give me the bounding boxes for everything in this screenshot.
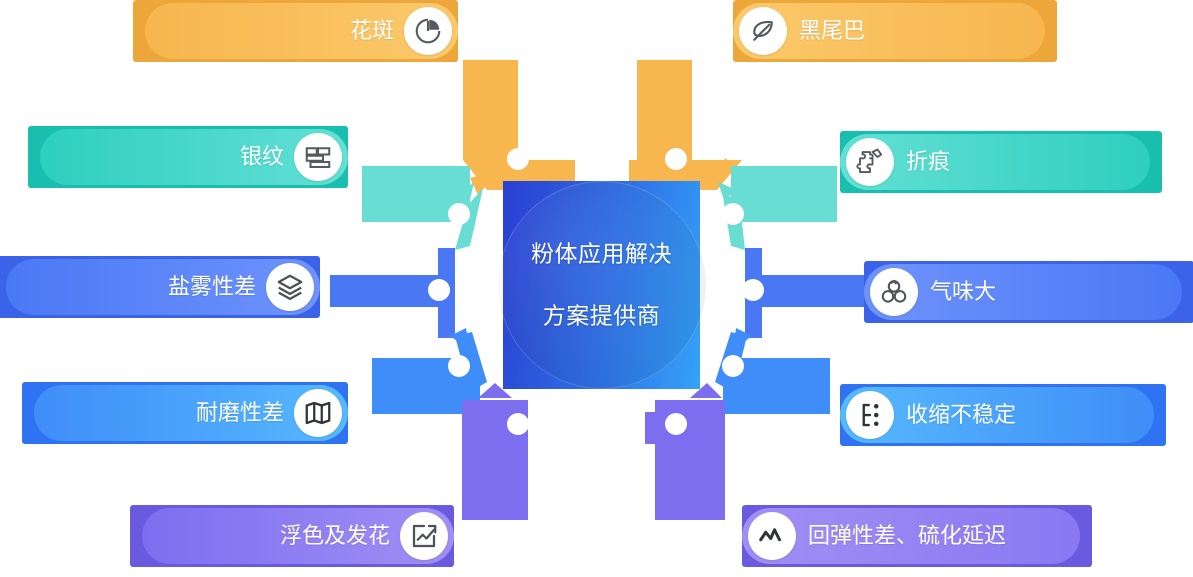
connector-huitan xyxy=(645,383,725,520)
leaf-icon xyxy=(739,7,787,55)
node-zhehen[interactable]: 折痕 xyxy=(840,131,1162,193)
node-qiwei[interactable]: 气味大 xyxy=(864,261,1193,323)
node-label: 盐雾性差 xyxy=(168,276,256,298)
node-label: 气味大 xyxy=(930,281,996,303)
hub-label-line1: 粉体应用解决 xyxy=(503,239,700,270)
hub-label-line2: 方案提供商 xyxy=(503,301,700,332)
node-huaban[interactable]: 花斑 xyxy=(133,0,458,62)
connector-huaban xyxy=(463,60,575,195)
node-label: 银纹 xyxy=(240,146,284,168)
diagram-canvas: 粉体应用解决 方案提供商 花斑 银纹 xyxy=(0,0,1193,577)
node-pill[interactable]: 回弹性差、硫化延迟 xyxy=(742,508,1080,564)
pie-chart-icon xyxy=(404,7,452,55)
node-label: 回弹性差、硫化延迟 xyxy=(808,525,1006,547)
line-chart-icon xyxy=(748,512,796,560)
node-heiweiba[interactable]: 黑尾巴 xyxy=(733,0,1057,62)
puzzle-icon xyxy=(846,138,894,186)
connector-shousuo xyxy=(715,328,830,414)
layers-icon xyxy=(266,263,314,311)
node-yinwen[interactable]: 银纹 xyxy=(28,126,348,188)
map-icon xyxy=(294,389,342,437)
connector-zhehen xyxy=(718,166,837,250)
node-naimo[interactable]: 耐磨性差 xyxy=(22,382,348,444)
node-pill[interactable]: 折痕 xyxy=(840,134,1150,190)
node-pill[interactable]: 收缩不稳定 xyxy=(840,387,1154,443)
connector-fuse xyxy=(462,383,529,520)
node-shousuo[interactable]: 收缩不稳定 xyxy=(840,384,1166,446)
node-pill[interactable]: 盐雾性差 xyxy=(6,259,320,315)
node-label: 黑尾巴 xyxy=(799,20,865,42)
node-pill[interactable]: 气味大 xyxy=(864,264,1182,320)
node-label: 收缩不稳定 xyxy=(906,404,1016,426)
connector-heiweiba xyxy=(629,60,742,190)
node-pill[interactable]: 花斑 xyxy=(145,3,458,59)
node-pill[interactable]: 黑尾巴 xyxy=(733,3,1045,59)
node-label: 浮色及发花 xyxy=(280,525,390,547)
node-label: 花斑 xyxy=(350,20,394,42)
recycle-icon xyxy=(870,268,918,316)
hub-label: 粉体应用解决 方案提供商 xyxy=(503,208,700,363)
node-huitan[interactable]: 回弹性差、硫化延迟 xyxy=(742,505,1092,567)
connector-yanwu xyxy=(330,248,455,338)
node-pill[interactable]: 浮色及发花 xyxy=(142,508,454,564)
node-pill[interactable]: 耐磨性差 xyxy=(34,385,348,441)
node-fuse[interactable]: 浮色及发花 xyxy=(130,505,454,567)
sitemap-icon xyxy=(846,391,894,439)
connector-yinwen xyxy=(362,166,483,250)
trend-box-icon xyxy=(400,512,448,560)
node-pill[interactable]: 银纹 xyxy=(40,129,348,185)
node-yanwu[interactable]: 盐雾性差 xyxy=(0,256,320,318)
node-label: 折痕 xyxy=(906,151,950,173)
center-hub: 粉体应用解决 方案提供商 xyxy=(503,181,700,389)
node-label: 耐磨性差 xyxy=(196,402,284,424)
brick-wall-icon xyxy=(294,133,342,181)
connector-qiwei xyxy=(742,248,868,338)
